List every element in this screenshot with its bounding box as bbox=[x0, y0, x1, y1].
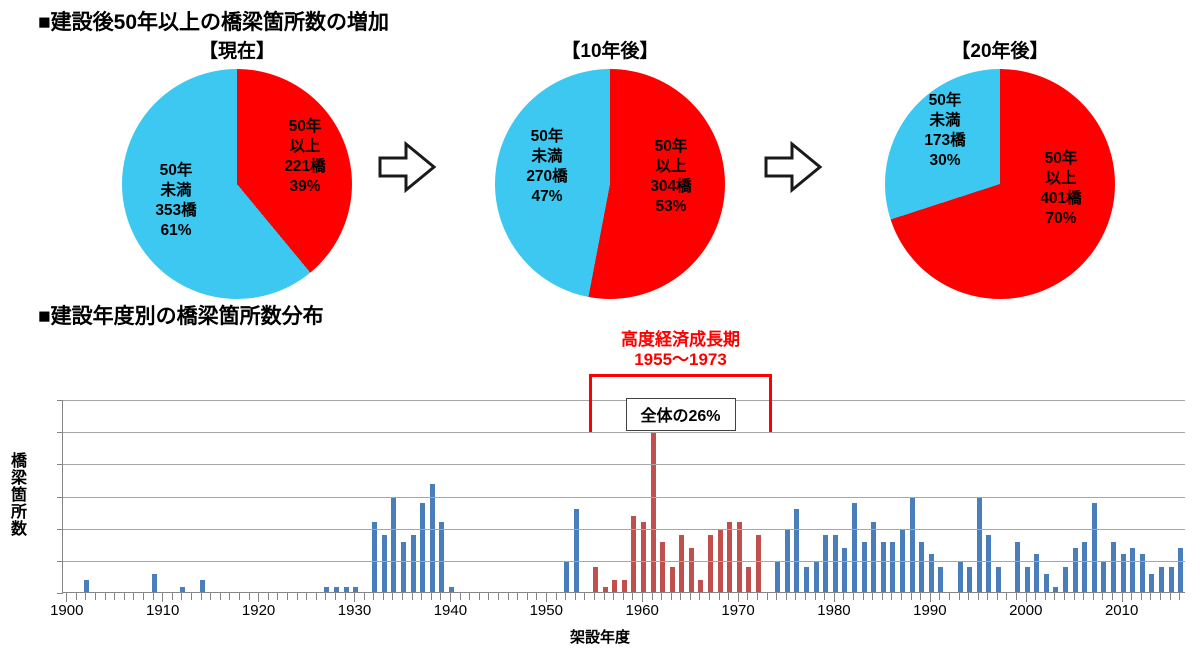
x-tick-mark bbox=[920, 593, 921, 600]
x-axis-ticks bbox=[62, 593, 1184, 601]
x-tick-mark bbox=[959, 593, 960, 600]
x-tick-mark bbox=[728, 593, 729, 600]
x-tick-mark bbox=[143, 593, 144, 600]
x-tick-mark bbox=[767, 593, 768, 600]
bar bbox=[651, 432, 656, 593]
slice-line: 50年 bbox=[625, 137, 717, 157]
x-tick-mark bbox=[181, 593, 182, 600]
bar bbox=[986, 535, 991, 593]
x-tick-mark bbox=[450, 593, 451, 602]
x-tick-mark bbox=[546, 593, 547, 602]
x-tick-mark bbox=[469, 593, 470, 600]
x-tick-mark bbox=[191, 593, 192, 600]
bar bbox=[1082, 542, 1087, 593]
grid-line bbox=[63, 464, 1185, 465]
x-tick-mark bbox=[287, 593, 288, 600]
x-tick-mark bbox=[872, 593, 873, 600]
x-tick-mark bbox=[325, 593, 326, 600]
bar bbox=[804, 567, 809, 593]
pie-chart-20y: 【20年後】 50年 以上 401橋 70% 50年 未満 173橋 30% bbox=[855, 36, 1145, 299]
bar bbox=[727, 522, 732, 593]
x-tick-mark bbox=[795, 593, 796, 600]
pie-caption-current: 【現在】 bbox=[92, 36, 382, 63]
x-tick-label: 1990 bbox=[913, 602, 946, 619]
x-tick-mark bbox=[1102, 593, 1103, 600]
pie-wrap-10y: 50年 以上 304橋 53% 50年 未満 270橋 47% bbox=[465, 69, 755, 299]
bar bbox=[152, 574, 157, 593]
x-tick-mark bbox=[891, 593, 892, 600]
slice-line: 270橋 bbox=[501, 167, 593, 187]
x-tick-mark bbox=[249, 593, 250, 600]
bar bbox=[1111, 542, 1116, 593]
slice-line: 61% bbox=[130, 221, 222, 241]
x-tick-mark bbox=[776, 593, 777, 600]
pie-slice-label-under-current: 50年 未満 353橋 61% bbox=[130, 161, 222, 242]
x-tick-mark bbox=[153, 593, 154, 600]
x-tick-mark bbox=[565, 593, 566, 600]
bar bbox=[679, 535, 684, 593]
x-tick-label: 1920 bbox=[242, 602, 275, 619]
x-tick-mark bbox=[652, 593, 653, 600]
bar bbox=[574, 509, 579, 593]
slice-line: 30% bbox=[899, 151, 991, 171]
bar bbox=[689, 548, 694, 593]
x-tick-mark bbox=[201, 593, 202, 600]
x-tick-mark bbox=[642, 593, 643, 602]
x-tick-mark bbox=[402, 593, 403, 600]
bar bbox=[881, 542, 886, 593]
slice-line: 401橋 bbox=[1015, 189, 1107, 209]
pie-slice-label-over-20y: 50年 以上 401橋 70% bbox=[1015, 149, 1107, 230]
bar bbox=[814, 561, 819, 593]
bar bbox=[391, 497, 396, 594]
bar bbox=[794, 509, 799, 593]
bar bbox=[564, 561, 569, 593]
x-tick-mark bbox=[488, 593, 489, 600]
x-tick-mark bbox=[162, 593, 163, 602]
x-tick-mark bbox=[968, 593, 969, 600]
x-tick-mark bbox=[699, 593, 700, 600]
pie-chart-10y: 【10年後】 50年 以上 304橋 53% 50年 未満 270橋 47% bbox=[465, 36, 755, 299]
x-tick-mark bbox=[460, 593, 461, 600]
bar bbox=[1073, 548, 1078, 593]
x-tick-mark bbox=[613, 593, 614, 600]
x-tick-mark bbox=[604, 593, 605, 600]
pie-chart-current: 【現在】 50年 以上 221橋 39% 50年 未満 353橋 61% bbox=[92, 36, 382, 299]
bar-chart: 橋梁箇所数 1900191019201930194019501960197019… bbox=[0, 330, 1200, 651]
x-tick-mark bbox=[85, 593, 86, 600]
x-tick-mark bbox=[268, 593, 269, 600]
x-tick-mark bbox=[527, 593, 528, 600]
bar bbox=[737, 522, 742, 593]
growth-period-annotation: 高度経済成長期 1955〜1973 全体の26% bbox=[589, 330, 771, 369]
x-tick-mark bbox=[335, 593, 336, 600]
x-tick-mark bbox=[277, 593, 278, 600]
bar bbox=[910, 497, 915, 594]
x-tick-mark bbox=[1170, 593, 1171, 600]
x-tick-mark bbox=[632, 593, 633, 600]
bar bbox=[1169, 567, 1174, 593]
annotation-text: 高度経済成長期 1955〜1973 bbox=[589, 330, 771, 369]
x-tick-mark bbox=[575, 593, 576, 600]
bar bbox=[823, 535, 828, 593]
arrow-right-icon-1 bbox=[376, 136, 438, 198]
slice-line: 221橋 bbox=[262, 157, 348, 177]
arrow-right-icon-2 bbox=[762, 136, 824, 198]
x-tick-mark bbox=[709, 593, 710, 600]
x-tick-mark bbox=[738, 593, 739, 602]
x-tick-mark bbox=[719, 593, 720, 600]
x-tick-mark bbox=[997, 593, 998, 600]
bar bbox=[1149, 574, 1154, 593]
y-tick-mark bbox=[57, 497, 63, 498]
slice-line: 50年 bbox=[899, 91, 991, 111]
x-tick-mark bbox=[863, 593, 864, 600]
y-tick-mark bbox=[57, 432, 63, 433]
x-tick-mark bbox=[373, 593, 374, 600]
bar bbox=[1159, 567, 1164, 593]
bar bbox=[996, 567, 1001, 593]
x-tick-label: 1980 bbox=[817, 602, 850, 619]
y-tick-mark bbox=[57, 400, 63, 401]
x-tick-mark bbox=[1016, 593, 1017, 600]
bar bbox=[890, 542, 895, 593]
bar-section-heading: ■建設年度別の橋梁箇所数分布 bbox=[38, 300, 324, 330]
pie-caption-20y: 【20年後】 bbox=[855, 36, 1145, 63]
slice-line: 50年 bbox=[501, 127, 593, 147]
x-tick-mark bbox=[114, 593, 115, 600]
slice-line: 304橋 bbox=[625, 177, 717, 197]
bar bbox=[756, 535, 761, 593]
pie-slice-label-over-10y: 50年 以上 304橋 53% bbox=[625, 137, 717, 218]
x-tick-label: 1930 bbox=[338, 602, 371, 619]
x-tick-mark bbox=[220, 593, 221, 600]
bar bbox=[372, 522, 377, 593]
x-tick-mark bbox=[76, 593, 77, 600]
bar bbox=[1178, 548, 1183, 593]
bar bbox=[958, 561, 963, 593]
slice-line: 70% bbox=[1015, 209, 1107, 229]
slice-line: 39% bbox=[262, 177, 348, 197]
bar bbox=[842, 548, 847, 593]
grid-line bbox=[63, 561, 1185, 562]
bar bbox=[871, 522, 876, 593]
slice-line: 53% bbox=[625, 197, 717, 217]
slice-line: 50年 bbox=[1015, 149, 1107, 169]
x-tick-mark bbox=[594, 593, 595, 600]
grid-line bbox=[63, 432, 1185, 433]
x-tick-mark bbox=[479, 593, 480, 600]
annotation-line-1: 高度経済成長期 bbox=[589, 330, 771, 350]
x-tick-mark bbox=[556, 593, 557, 600]
x-tick-mark bbox=[1006, 593, 1007, 600]
x-tick-mark bbox=[584, 593, 585, 600]
x-tick-mark bbox=[508, 593, 509, 600]
slice-line: 353橋 bbox=[130, 201, 222, 221]
x-tick-mark bbox=[882, 593, 883, 600]
x-tick-mark bbox=[498, 593, 499, 600]
x-tick-mark bbox=[1122, 593, 1123, 602]
x-tick-mark bbox=[786, 593, 787, 600]
x-tick-mark bbox=[172, 593, 173, 600]
bar bbox=[1025, 567, 1030, 593]
x-tick-mark bbox=[939, 593, 940, 600]
pie-slice-label-over-current: 50年 以上 221橋 39% bbox=[262, 117, 348, 198]
x-tick-mark bbox=[623, 593, 624, 600]
x-tick-mark bbox=[229, 593, 230, 600]
y-tick-mark bbox=[57, 464, 63, 465]
slice-line: 以上 bbox=[262, 137, 348, 157]
x-tick-mark bbox=[1179, 593, 1180, 600]
x-tick-mark bbox=[412, 593, 413, 600]
bar bbox=[660, 542, 665, 593]
x-tick-mark bbox=[1112, 593, 1113, 600]
x-tick-mark bbox=[258, 593, 259, 602]
bar bbox=[746, 567, 751, 593]
annotation-line-2: 1955〜1973 bbox=[589, 350, 771, 370]
x-tick-mark bbox=[392, 593, 393, 600]
bar bbox=[977, 497, 982, 594]
x-tick-mark bbox=[133, 593, 134, 600]
x-tick-mark bbox=[431, 593, 432, 600]
y-tick-mark bbox=[57, 529, 63, 530]
slice-line: 以上 bbox=[1015, 169, 1107, 189]
x-tick-mark bbox=[354, 593, 355, 602]
bar bbox=[862, 542, 867, 593]
x-tick-mark bbox=[1141, 593, 1142, 600]
bar bbox=[1063, 567, 1068, 593]
x-tick-label: 1950 bbox=[530, 602, 563, 619]
x-tick-mark bbox=[66, 593, 67, 602]
slice-line: 未満 bbox=[501, 147, 593, 167]
annotation-share-box: 全体の26% bbox=[626, 398, 736, 431]
x-tick-mark bbox=[517, 593, 518, 600]
x-tick-mark bbox=[690, 593, 691, 600]
pie-wrap-current: 50年 以上 221橋 39% 50年 未満 353橋 61% bbox=[92, 69, 382, 299]
x-tick-label: 2010 bbox=[1105, 602, 1138, 619]
pie-slice-label-under-10y: 50年 未満 270橋 47% bbox=[501, 127, 593, 208]
x-tick-label: 2000 bbox=[1009, 602, 1042, 619]
x-tick-mark bbox=[1045, 593, 1046, 600]
bar bbox=[919, 542, 924, 593]
slice-line: 未満 bbox=[899, 111, 991, 131]
x-tick-mark bbox=[1083, 593, 1084, 600]
x-tick-mark bbox=[834, 593, 835, 602]
x-tick-mark bbox=[364, 593, 365, 600]
x-tick-mark bbox=[383, 593, 384, 600]
slice-line: 未満 bbox=[130, 181, 222, 201]
x-tick-mark bbox=[124, 593, 125, 600]
x-tick-mark bbox=[1035, 593, 1036, 600]
grid-line bbox=[63, 529, 1185, 530]
bar bbox=[852, 503, 857, 593]
x-tick-label: 1900 bbox=[50, 602, 83, 619]
x-tick-mark bbox=[1150, 593, 1151, 600]
x-tick-mark bbox=[987, 593, 988, 600]
bar bbox=[631, 516, 636, 593]
x-tick-label: 1960 bbox=[625, 602, 658, 619]
bar bbox=[1101, 561, 1106, 593]
x-tick-mark bbox=[316, 593, 317, 600]
x-tick-mark bbox=[853, 593, 854, 600]
x-tick-mark bbox=[680, 593, 681, 600]
bar bbox=[833, 535, 838, 593]
x-tick-mark bbox=[297, 593, 298, 600]
x-tick-mark bbox=[1093, 593, 1094, 600]
x-axis-title: 架設年度 bbox=[0, 626, 1200, 647]
pie-wrap-20y: 50年 以上 401橋 70% 50年 未満 173橋 30% bbox=[855, 69, 1145, 299]
bar bbox=[420, 503, 425, 593]
y-tick-mark bbox=[57, 561, 63, 562]
x-tick-mark bbox=[815, 593, 816, 600]
bar bbox=[641, 522, 646, 593]
x-tick-mark bbox=[1054, 593, 1055, 600]
bar bbox=[1044, 574, 1049, 593]
x-tick-mark bbox=[757, 593, 758, 600]
bar bbox=[938, 567, 943, 593]
x-tick-mark bbox=[805, 593, 806, 600]
slice-line: 173橋 bbox=[899, 131, 991, 151]
bar bbox=[439, 522, 444, 593]
bar bbox=[670, 567, 675, 593]
bar bbox=[1130, 548, 1135, 593]
x-tick-mark bbox=[661, 593, 662, 600]
x-tick-mark bbox=[95, 593, 96, 600]
x-tick-mark bbox=[105, 593, 106, 600]
x-tick-mark bbox=[239, 593, 240, 600]
y-axis-title: 橋梁箇所数 bbox=[8, 452, 24, 537]
x-tick-label: 1970 bbox=[721, 602, 754, 619]
x-tick-mark bbox=[306, 593, 307, 600]
bar bbox=[1015, 542, 1020, 593]
bar bbox=[411, 535, 416, 593]
x-tick-mark bbox=[536, 593, 537, 600]
pie-caption-10y: 【10年後】 bbox=[465, 36, 755, 63]
x-tick-mark bbox=[345, 593, 346, 600]
x-tick-mark bbox=[901, 593, 902, 600]
x-tick-label: 1910 bbox=[146, 602, 179, 619]
x-tick-mark bbox=[1131, 593, 1132, 600]
x-axis-labels: 1900191019201930194019501960197019801990… bbox=[62, 602, 1184, 626]
x-tick-label: 1940 bbox=[434, 602, 467, 619]
slice-line: 50年 bbox=[262, 117, 348, 137]
x-tick-mark bbox=[671, 593, 672, 600]
bar bbox=[775, 561, 780, 593]
x-tick-mark bbox=[930, 593, 931, 602]
x-tick-mark bbox=[747, 593, 748, 600]
x-tick-mark bbox=[843, 593, 844, 600]
bar bbox=[401, 542, 406, 593]
x-tick-mark bbox=[210, 593, 211, 600]
x-tick-mark bbox=[440, 593, 441, 600]
slice-line: 47% bbox=[501, 187, 593, 207]
bar bbox=[967, 567, 972, 593]
bar bbox=[708, 535, 713, 593]
x-tick-mark bbox=[1026, 593, 1027, 602]
x-tick-mark bbox=[824, 593, 825, 600]
x-tick-mark bbox=[1160, 593, 1161, 600]
x-tick-mark bbox=[911, 593, 912, 600]
slice-line: 以上 bbox=[625, 157, 717, 177]
bar bbox=[593, 567, 598, 593]
pie-slice-label-under-20y: 50年 未満 173橋 30% bbox=[899, 91, 991, 172]
bar bbox=[430, 484, 435, 593]
x-tick-mark bbox=[1064, 593, 1065, 600]
x-tick-mark bbox=[421, 593, 422, 600]
x-tick-mark bbox=[1074, 593, 1075, 600]
x-tick-mark bbox=[978, 593, 979, 600]
x-tick-mark bbox=[949, 593, 950, 600]
slice-line: 50年 bbox=[130, 161, 222, 181]
bar bbox=[382, 535, 387, 593]
pie-section-heading: ■建設後50年以上の橋梁箇所数の増加 bbox=[38, 6, 389, 36]
bar bbox=[1092, 503, 1097, 593]
grid-line bbox=[63, 497, 1185, 498]
